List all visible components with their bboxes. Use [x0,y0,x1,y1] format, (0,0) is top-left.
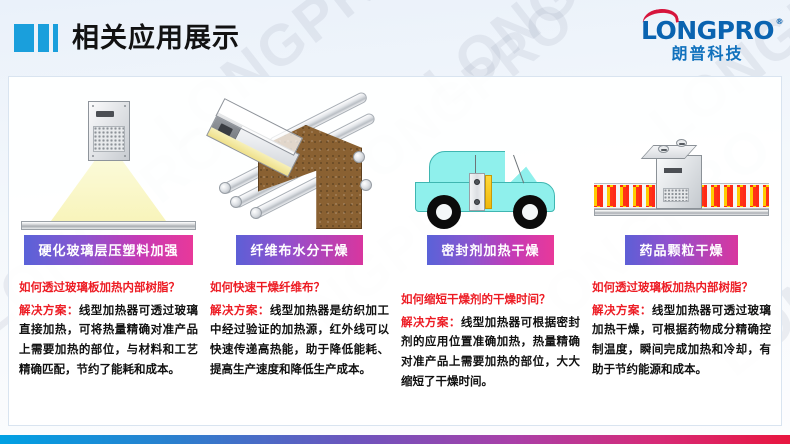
heater-top-face [641,145,698,159]
overhead-heater-conveyor-illustration [19,83,198,235]
answer-lead-label: 解决方案： [401,315,461,329]
conveyor-rail [21,221,196,230]
card-question: 如何缩短干燥剂的干燥时间？ [401,291,580,308]
card-question: 如何透过玻璃板加热内部树脂？ [19,279,198,296]
card-answer: 解决方案：线型加热器可透过玻璃直接加热，可将热量精确对准产品上需要加热的部位，与… [19,301,198,380]
fabric-web-dryer-illustration [210,83,389,235]
page-title: 相关应用展示 [72,25,240,52]
heater-vent-grille-icon [93,126,125,152]
answer-lead-label: 解决方案： [19,303,79,317]
accent-bar-medium [38,24,49,52]
heater-brand-strip [664,168,682,172]
roller-end-cap [353,151,365,163]
conveyor-rail [594,209,769,216]
card-badge: 药品颗粒干燥 [625,235,737,265]
card-badge: 硬化玻璃层压塑料加强 [24,235,192,265]
title-accent-bars [14,24,58,52]
card-badge: 纤维布水分干燥 [236,235,362,265]
application-card: 药品颗粒干燥 如何透过玻璃板加热内部树脂？ 解决方案：线型加热器可透过玻璃加热干… [586,83,777,421]
sealant-strip [485,175,492,209]
card-answer: 解决方案：线型加热器可根据密封剂的应用位置准确加热，热量精确对准产品上需要加热的… [401,313,580,392]
pharma-granule-dryer-illustration [592,83,771,235]
logo-wordmark-container: LONGPRO ® [641,18,774,43]
card-badge: 密封剂加热干燥 [427,235,553,265]
infrared-heater-unit [656,155,702,209]
logo-chinese-name: 朗普科技 [641,46,774,62]
car-wheel-front [427,195,461,229]
screw-icon [92,155,94,157]
accent-bar-wide [14,24,34,52]
slide-root: LONGPRO LONGPRO LONGPRO LONGPRO LONGPRO … [0,0,790,444]
card-answer: 解决方案：线型加热器是纺织加工中经过验证的加热源，红外线可以快速传递高热能，助于… [210,301,389,380]
car-wheel-rear [513,195,547,229]
screw-icon [124,155,126,157]
card-question: 如何透过玻璃板加热内部树脂？ [592,279,771,296]
roller-end-cap [360,179,372,191]
light-beam-shape [50,161,168,223]
slide-header: 相关应用展示 LONGPRO ® 朗普科技 [0,0,790,76]
answer-lead-label: 解决方案： [210,303,270,317]
screw-icon [92,105,94,107]
card-answer: 解决方案：线型加热器可透过玻璃加热干燥，可根据药物成分精确控制温度，瞬间完成加热… [592,301,771,380]
car-sealant-curing-illustration [401,83,580,235]
roller-end-cap [230,196,242,208]
line-heater-unit [469,173,485,211]
heater-vent-grille-icon [663,188,689,202]
application-card: 硬化玻璃层压塑料加强 如何透过玻璃板加热内部树脂？ 解决方案：线型加热器可透过玻… [13,83,204,421]
heater-mount-dot-icon [474,179,480,185]
company-logo: LONGPRO ® 朗普科技 [641,14,774,62]
content-panel: 硬化玻璃层压塑料加强 如何透过玻璃板加热内部树脂？ 解决方案：线型加热器可透过玻… [8,76,782,426]
accent-bar-narrow [53,24,58,52]
heater-fan-icon [676,139,687,147]
card-question: 如何快速干燥纤维布？ [210,279,389,296]
infrared-heater-unit [88,101,130,161]
heater-brand-strip [96,111,114,117]
footer-gradient-bar [0,435,790,444]
screw-icon [124,105,126,107]
heater-mount-dot-icon [474,199,480,205]
answer-lead-label: 解决方案： [592,303,652,317]
roller-end-cap [250,207,262,219]
registered-mark-icon: ® [776,18,784,26]
heater-fan-icon [658,145,669,153]
roller-end-cap [219,182,231,194]
application-card: 密封剂加热干燥 如何缩短干燥剂的干燥时间？ 解决方案：线型加热器可根据密封剂的应… [395,83,586,421]
application-card: 纤维布水分干燥 如何快速干燥纤维布？ 解决方案：线型加热器是纺织加工中经过验证的… [204,83,395,421]
